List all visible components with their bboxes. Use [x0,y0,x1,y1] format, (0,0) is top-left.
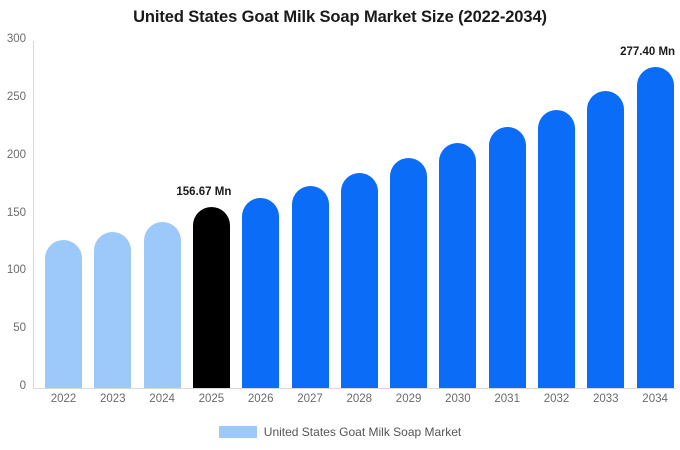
bar-value-label-2034: 277.40 Mn [620,46,675,58]
bar-2028[interactable] [341,173,378,388]
y-axis-tick-label: 150 [0,207,26,219]
y-axis-tick-label: 100 [0,264,26,276]
bar-2023[interactable] [94,232,131,388]
bar-2034[interactable] [637,67,674,388]
bar-2032[interactable] [538,110,575,388]
bar-2029[interactable] [390,158,427,388]
x-axis-tick-label-2034: 2034 [625,393,680,405]
bar-2026[interactable] [242,198,279,388]
bar-2024[interactable] [144,222,181,388]
y-axis-tick-labels: 050100150200250300 [0,0,28,450]
bar-2030[interactable] [439,143,476,388]
plot-area [34,41,676,388]
bar-chart: United States Goat Milk Soap Market Size… [0,0,680,450]
y-axis-tick-label: 0 [0,380,26,392]
chart-legend: United States Goat Milk Soap Market [0,425,680,439]
y-axis-tick-label: 50 [0,322,26,334]
legend-swatch-icon [219,426,257,438]
y-axis-tick-label: 250 [0,91,26,103]
bar-2033[interactable] [587,91,624,388]
x-axis-line [33,388,676,389]
y-axis-tick-label: 300 [0,33,26,45]
bar-value-label-2025: 156.67 Mn [176,186,231,198]
y-axis-tick-label: 200 [0,149,26,161]
bar-2027[interactable] [292,186,329,388]
bar-2031[interactable] [489,127,526,388]
legend-item-label: United States Goat Milk Soap Market [264,425,461,439]
legend-item[interactable]: United States Goat Milk Soap Market [219,425,461,439]
bar-2025[interactable] [193,207,230,388]
chart-title: United States Goat Milk Soap Market Size… [0,8,680,27]
bar-2022[interactable] [45,240,82,388]
